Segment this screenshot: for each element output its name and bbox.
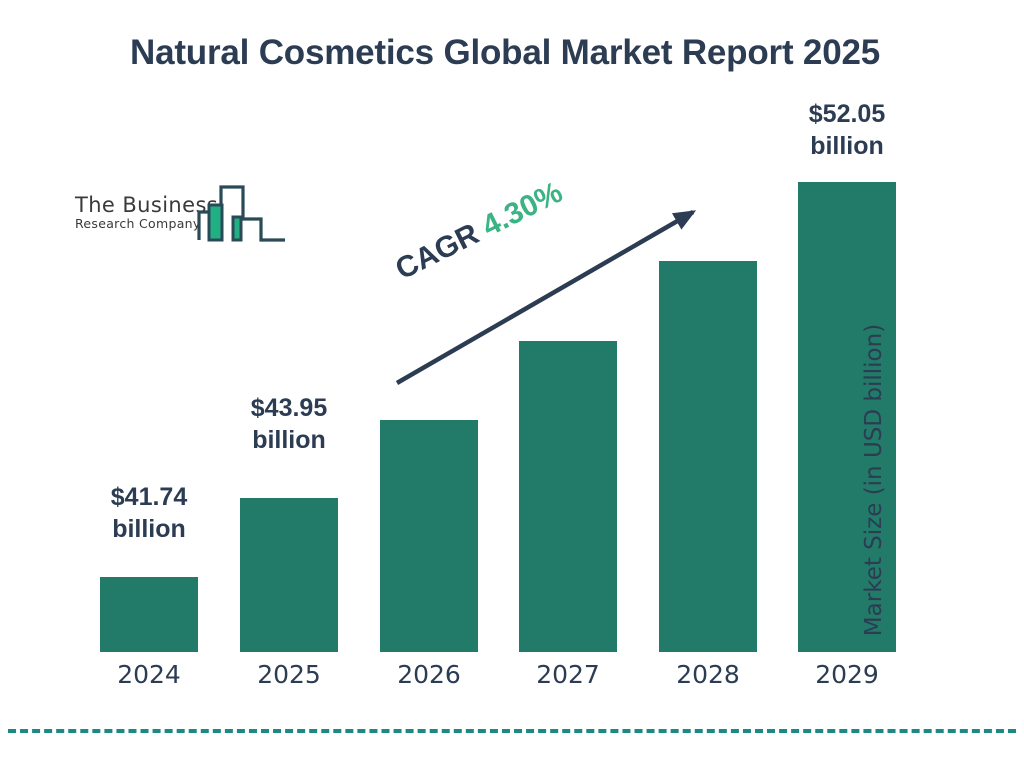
company-logo: The Business Research Company [72, 172, 287, 252]
x-tick-2026: 2026 [380, 660, 478, 689]
x-tick-2025: 2025 [240, 660, 338, 689]
bar-value-label-2029: $52.05 billion [777, 98, 917, 162]
bar-2026 [380, 420, 478, 652]
bar-value-line-1: $52.05 [777, 98, 917, 130]
page-title: Natural Cosmetics Global Market Report 2… [90, 30, 920, 77]
bar-value-label-2025: $43.95 billion [219, 392, 359, 456]
x-tick-2027: 2027 [519, 660, 617, 689]
cagr-value: 4.30% [477, 176, 568, 243]
bar-value-line-2: billion [79, 513, 219, 545]
cagr-annotation: CAGR 4.30% [390, 176, 568, 288]
bar-2028 [659, 261, 757, 652]
bar-value-line-2: billion [219, 424, 359, 456]
y-axis-title: Market Size (in USD billion) [861, 315, 887, 645]
bar-value-line-1: $43.95 [219, 392, 359, 424]
bar-2024 [100, 577, 198, 652]
bar-chart-logo-mark [197, 172, 287, 255]
footer-divider [8, 729, 1016, 733]
chart-canvas: Natural Cosmetics Global Market Report 2… [0, 0, 1024, 768]
bar-2025 [240, 498, 338, 652]
x-tick-2029: 2029 [798, 660, 896, 689]
bar-value-label-2024: $41.74 billion [79, 481, 219, 545]
bar-2027 [519, 341, 617, 652]
x-tick-2028: 2028 [659, 660, 757, 689]
x-tick-2024: 2024 [100, 660, 198, 689]
cagr-word: CAGR [390, 217, 484, 286]
bar-value-line-2: billion [777, 130, 917, 162]
bar-value-line-1: $41.74 [79, 481, 219, 513]
